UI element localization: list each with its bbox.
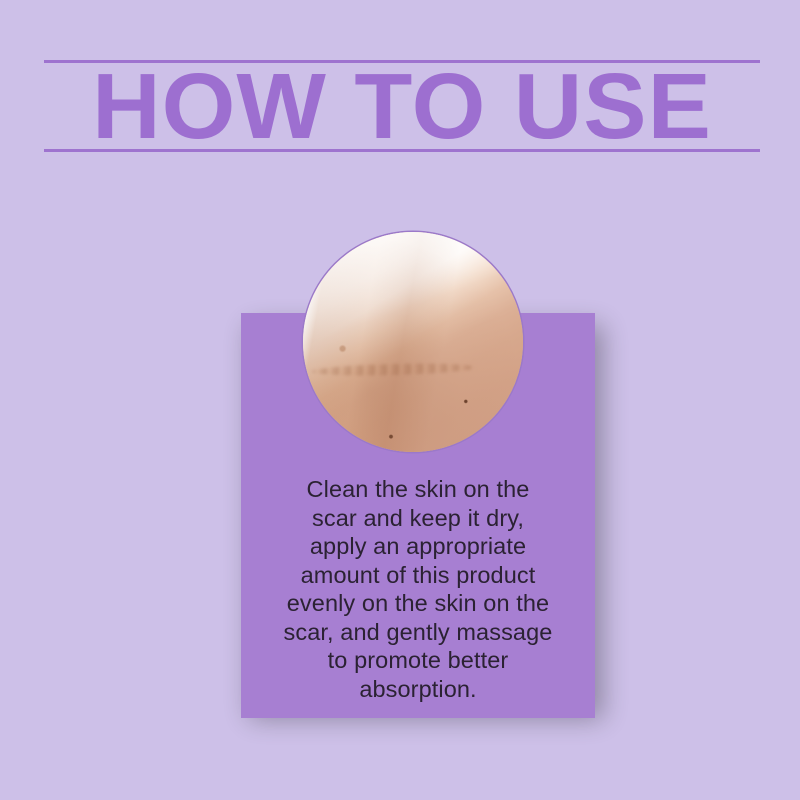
- page-title: HOW TO USE: [37, 60, 767, 152]
- bottom-divider-rule: [44, 149, 760, 152]
- skin-photo-image: [303, 232, 523, 452]
- poster-canvas: HOW TO USE Clean the skin on the scar an…: [0, 0, 800, 800]
- skin-photo-circle: [303, 232, 523, 452]
- header-block: HOW TO USE: [44, 60, 760, 152]
- instruction-text: Clean the skin on the scar and keep it d…: [269, 475, 567, 703]
